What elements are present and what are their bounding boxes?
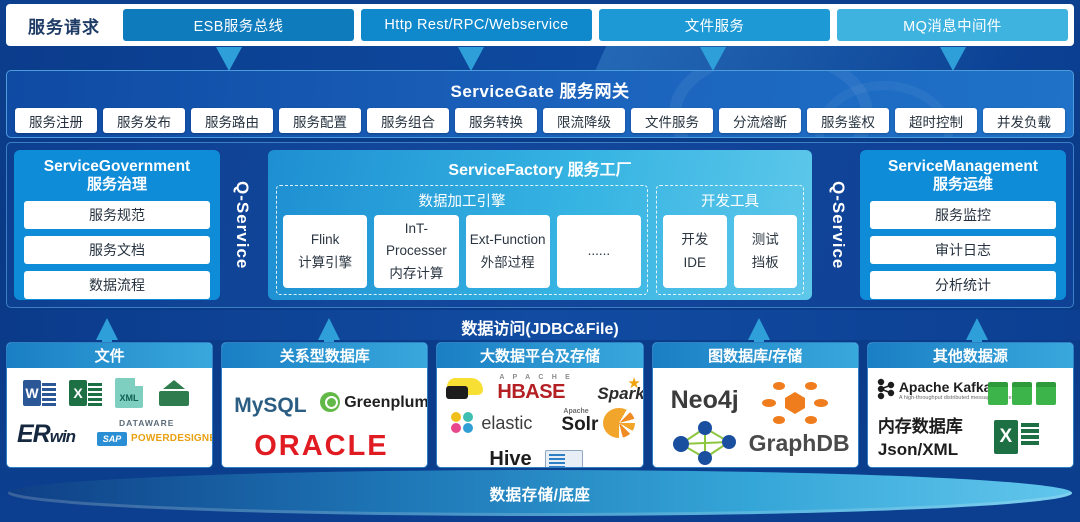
gate-chip-transform[interactable]: 服务转换 xyxy=(455,108,537,133)
service-factory-body: 数据加工引擎 Flink 计算引擎 InT-Processer 内存计算 Ext… xyxy=(276,185,804,295)
source-card-files-body: W X XML ERwin DATAWARE SAP POW xyxy=(7,368,212,467)
source-card-graphdb-body: Neo4j xyxy=(653,368,858,467)
json-xml-label: Json/XML xyxy=(878,440,958,460)
service-management-items: 服务监控 审计日志 分析统计 xyxy=(870,201,1056,299)
gate-chip-compose[interactable]: 服务组合 xyxy=(367,108,449,133)
engine-card-int-line1: InT-Processer xyxy=(376,218,456,263)
gov-item-dataflow[interactable]: 数据流程 xyxy=(24,271,210,299)
mgmt-item-analytics[interactable]: 分析统计 xyxy=(870,271,1056,299)
q-service-left-text: Q-Service xyxy=(232,181,252,269)
engine-card-ext-line1: Ext-Function xyxy=(470,229,546,251)
service-gate-title: ServiceGate 服务网关 xyxy=(7,71,1073,102)
service-request-label: 服务请求 xyxy=(12,13,116,38)
service-management-title: ServiceManagement 服务运维 xyxy=(870,157,1056,195)
hive-file-icon xyxy=(545,450,583,468)
hive-logo: Hive xyxy=(489,448,531,468)
engine-card-flink[interactable]: Flink 计算引擎 xyxy=(283,215,367,288)
source-card-files-title: 文件 xyxy=(7,343,212,368)
greenplum-logo: Greenplum xyxy=(344,394,428,412)
devtool-test-line1: 测试 xyxy=(752,229,779,251)
downward-arrow-band xyxy=(0,46,1080,72)
green-table-icon xyxy=(988,382,1056,405)
service-government-title: ServiceGovernment 服务治理 xyxy=(24,157,210,195)
service-government-title-en: ServiceGovernment xyxy=(24,157,210,176)
gate-chip-route[interactable]: 服务路由 xyxy=(191,108,273,133)
gov-item-spec[interactable]: 服务规范 xyxy=(24,201,210,229)
arrow-down-icon xyxy=(700,47,726,71)
data-processing-engine-title: 数据加工引擎 xyxy=(283,190,641,211)
kafka-logo: Apache Kafka xyxy=(899,379,992,395)
source-card-other-title: 其他数据源 xyxy=(868,343,1073,368)
service-gate-panel: ServiceGate 服务网关 服务注册 服务发布 服务路由 服务配置 服务组… xyxy=(6,70,1074,138)
arrow-down-icon xyxy=(940,47,966,71)
xml-file-icon: XML xyxy=(115,378,143,408)
gov-item-doc[interactable]: 服务文档 xyxy=(24,236,210,264)
service-factory-panel: ServiceFactory 服务工厂 数据加工引擎 Flink 计算引擎 In… xyxy=(268,150,812,300)
engine-card-more[interactable]: ...... xyxy=(557,215,641,288)
dataware-logo: DATAWARE xyxy=(119,418,174,428)
gate-chip-auth[interactable]: 服务鉴权 xyxy=(807,108,889,133)
engine-card-flink-line2: 计算引擎 xyxy=(298,252,352,274)
solr-sun-icon xyxy=(603,408,635,438)
arrow-down-icon xyxy=(458,47,484,71)
mgmt-item-audit-log[interactable]: 审计日志 xyxy=(870,236,1056,264)
xml-file-label: XML xyxy=(115,393,143,403)
source-card-rdbms-title: 关系型数据库 xyxy=(222,343,427,368)
elastic-mark-icon xyxy=(451,412,477,434)
service-management-title-en: ServiceManagement xyxy=(870,157,1056,176)
gate-chip-concurrency[interactable]: 并发负载 xyxy=(983,108,1065,133)
gate-chip-circuit-breaker[interactable]: 分流熔断 xyxy=(719,108,801,133)
hadoop-hive-logo xyxy=(445,376,489,402)
service-factory-title: ServiceFactory 服务工厂 xyxy=(276,156,804,180)
kafka-mark-icon xyxy=(876,378,896,400)
excel-icon: X xyxy=(994,420,1040,454)
devtool-test-line2: 挡板 xyxy=(752,252,779,274)
data-source-row: 文件 W X XML ERwin DAT xyxy=(6,342,1074,468)
middle-layer: ServiceGovernment 服务治理 服务规范 服务文档 数据流程 Q-… xyxy=(6,142,1074,308)
source-card-bigdata-body: A P A C H E HBASE Spark ★ elastic Apache… xyxy=(437,368,642,467)
hbase-logo: HBASE xyxy=(497,381,565,404)
memory-db-label: 内存数据库 xyxy=(878,412,963,437)
data-access-bar-title: 数据访问(JDBC&File) xyxy=(0,315,1080,339)
storage-platform-base: 数据存储/底座 xyxy=(8,470,1072,516)
engine-card-more-line1: ...... xyxy=(588,240,611,262)
service-management-title-cn: 服务运维 xyxy=(870,176,1056,195)
service-gate-chip-row: 服务注册 服务发布 服务路由 服务配置 服务组合 服务转换 限流降级 文件服务 … xyxy=(7,102,1073,133)
devtool-card-test[interactable]: 测试 挡板 xyxy=(734,215,798,288)
greenplum-mark-icon xyxy=(320,392,340,412)
word-icon: W xyxy=(23,380,57,406)
engine-card-int-processer[interactable]: InT-Processer 内存计算 xyxy=(374,215,458,288)
source-card-bigdata-title: 大数据平台及存储 xyxy=(437,343,642,368)
q-service-right-label: Q-Service xyxy=(816,150,860,300)
neo4j-graph-icon xyxy=(671,420,741,466)
arrow-down-icon xyxy=(216,47,242,71)
devtool-ide-line2: IDE xyxy=(683,252,706,274)
channel-esb[interactable]: ESB服务总线 xyxy=(123,9,354,41)
q-service-right-text: Q-Service xyxy=(828,181,848,269)
engine-card-flink-line1: Flink xyxy=(311,229,340,251)
gate-chip-config[interactable]: 服务配置 xyxy=(279,108,361,133)
storage-platform-label: 数据存储/底座 xyxy=(8,483,1072,505)
service-government-title-cn: 服务治理 xyxy=(24,176,210,195)
elastic-logo: elastic xyxy=(481,413,532,434)
gate-chip-file-service[interactable]: 文件服务 xyxy=(631,108,713,133)
service-management-panel: ServiceManagement 服务运维 服务监控 审计日志 分析统计 xyxy=(860,150,1066,300)
oracle-logo: ORACLE xyxy=(254,430,388,463)
source-card-files[interactable]: 文件 W X XML ERwin DAT xyxy=(6,342,213,468)
mgmt-item-monitor[interactable]: 服务监控 xyxy=(870,201,1056,229)
dev-tools-card-row: 开发 IDE 测试 挡板 xyxy=(663,215,797,288)
neo4j-logo: Neo4j xyxy=(671,386,739,415)
solr-logo: Solr xyxy=(561,414,598,436)
sap-logo: SAP xyxy=(97,432,127,446)
powerdesigner-logo: POWERDESIGNER xyxy=(131,433,213,444)
graphdb-logo: GraphDB xyxy=(749,430,850,457)
source-card-bigdata[interactable]: 大数据平台及存储 A P A C H E HBASE Spark ★ elast… xyxy=(436,342,643,468)
gate-chip-throttle[interactable]: 限流降级 xyxy=(543,108,625,133)
mysql-logo: MySQL xyxy=(234,394,306,418)
graphdb-mark-icon xyxy=(755,378,835,426)
dev-tools-title: 开发工具 xyxy=(663,190,797,211)
green-file-icon xyxy=(159,380,189,406)
gate-chip-timeout[interactable]: 超时控制 xyxy=(895,108,977,133)
source-card-rdbms-body: MySQL Greenplum ORACLE xyxy=(222,368,427,467)
devtool-ide-line1: 开发 xyxy=(681,229,708,251)
channel-http-rest[interactable]: Http Rest/RPC/Webservice xyxy=(361,9,592,41)
erwin-logo-text: ER xyxy=(17,420,50,448)
service-government-panel: ServiceGovernment 服务治理 服务规范 服务文档 数据流程 xyxy=(14,150,220,300)
gate-chip-publish[interactable]: 服务发布 xyxy=(103,108,185,133)
gate-chip-register[interactable]: 服务注册 xyxy=(15,108,97,133)
channel-mq[interactable]: MQ消息中间件 xyxy=(837,9,1068,41)
engine-card-int-line2: 内存计算 xyxy=(389,263,443,285)
devtool-card-ide[interactable]: 开发 IDE xyxy=(663,215,727,288)
channel-file-service[interactable]: 文件服务 xyxy=(599,9,830,41)
source-card-other[interactable]: 其他数据源 Apache Kafka A high-throughput dis… xyxy=(867,342,1074,468)
engine-card-row: Flink 计算引擎 InT-Processer 内存计算 Ext-Functi… xyxy=(283,215,641,288)
architecture-diagram: 服务请求 ESB服务总线 Http Rest/RPC/Webservice 文件… xyxy=(0,0,1080,522)
source-card-other-body: Apache Kafka A high-throughput distribut… xyxy=(868,368,1073,467)
spark-star-icon: ★ xyxy=(627,374,640,392)
q-service-left-label: Q-Service xyxy=(220,150,264,300)
engine-card-ext-line2: 外部过程 xyxy=(481,252,535,274)
data-processing-engine-group: 数据加工引擎 Flink 计算引擎 InT-Processer 内存计算 Ext… xyxy=(276,185,648,295)
data-access-bar: 数据访问(JDBC&File) xyxy=(0,310,1080,340)
dev-tools-group: 开发工具 开发 IDE 测试 挡板 xyxy=(656,185,804,295)
source-card-rdbms[interactable]: 关系型数据库 MySQL Greenplum ORACLE xyxy=(221,342,428,468)
engine-card-ext-function[interactable]: Ext-Function 外部过程 xyxy=(466,215,550,288)
service-government-items: 服务规范 服务文档 数据流程 xyxy=(24,201,210,299)
source-card-graphdb[interactable]: 图数据库/存储 Neo4j xyxy=(652,342,859,468)
source-card-graphdb-title: 图数据库/存储 xyxy=(653,343,858,368)
erwin-logo: ERwin xyxy=(17,420,75,449)
service-request-row: 服务请求 ESB服务总线 Http Rest/RPC/Webservice 文件… xyxy=(6,4,1074,46)
excel-icon: X xyxy=(69,380,103,406)
apache-label: A P A C H E xyxy=(499,374,573,381)
